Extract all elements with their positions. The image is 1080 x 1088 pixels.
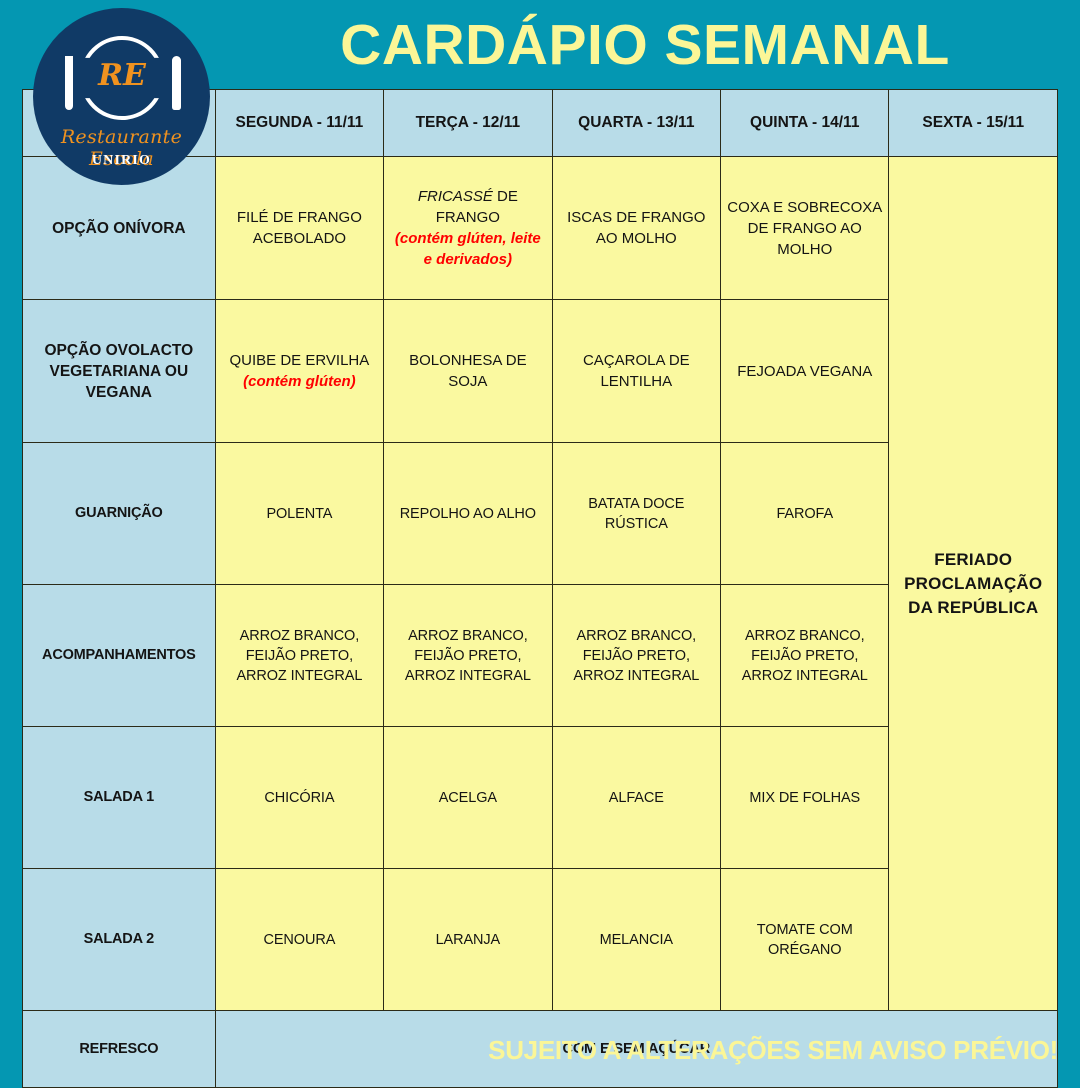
knife-icon [172,56,181,110]
cell-onivora-terca: FRICASSÉ DE FRANGO(contém glúten, leite … [384,157,552,300]
cell-acompanhamentos-quarta: ARROZ BRANCO, FEIJÃO PRETO, ARROZ INTEGR… [552,585,720,727]
day-header-segunda: SEGUNDA - 11/11 [215,90,383,157]
cell-acompanhamentos-terca: ARROZ BRANCO, FEIJÃO PRETO, ARROZ INTEGR… [384,585,552,727]
fork-tine-icon [70,56,73,78]
cell-vegetariana-segunda-allergen: (contém glúten) [221,371,378,392]
cell-vegetariana-terca: BOLONHESA DE SOJA [384,300,552,443]
cell-salada1-quinta: MIX DE FOLHAS [721,727,889,869]
cell-vegetariana-quinta: FEJOADA VEGANA [721,300,889,443]
cell-guarnicao-quarta: BATATA DOCE RÚSTICA [552,443,720,585]
restaurante-escola-logo: RE Restaurante Escola UNIRIO [33,8,210,185]
day-header-quinta: QUINTA - 14/11 [721,90,889,157]
cell-sexta-holiday-notice: FERIADO PROCLAMAÇÃO DA REPÚBLICA [889,157,1058,1011]
day-header-quarta: QUARTA - 13/11 [552,90,720,157]
weekly-menu-table: SEGUNDA - 11/11 TERÇA - 12/11 QUARTA - 1… [22,89,1058,1088]
cell-salada2-quarta: MELANCIA [552,869,720,1011]
cell-salada2-terca: LARANJA [384,869,552,1011]
cell-acompanhamentos-segunda: ARROZ BRANCO, FEIJÃO PRETO, ARROZ INTEGR… [215,585,383,727]
day-header-sexta: SEXTA - 15/11 [889,90,1058,157]
row-label-guarnicao: GUARNIÇÃO [23,443,216,585]
cell-salada1-quarta: ALFACE [552,727,720,869]
logo-monogram: RE [80,58,164,93]
cell-vegetariana-quarta: CAÇAROLA DE LENTILHA [552,300,720,443]
cell-salada2-quinta: TOMATE COM ORÉGANO [721,869,889,1011]
table-row-onivora: OPÇÃO ONÍVORA FILÉ DE FRANGO ACEBOLADO F… [23,157,1058,300]
cell-vegetariana-segunda-dish: QUIBE DE ERVILHA [230,352,370,369]
disclaimer-note: SUJEITO A ALTERAÇÕES SEM AVISO PRÉVIO! [0,1030,1058,1070]
cell-onivora-quarta: ISCAS DE FRANGO AO MOLHO [552,157,720,300]
day-header-terca: TERÇA - 12/11 [384,90,552,157]
cell-salada2-segunda: CENOURA [215,869,383,1011]
cell-onivora-terca-allergen: (contém glúten, leite e derivados) [389,228,546,270]
row-label-salada1: SALADA 1 [23,727,216,869]
cell-onivora-quinta: COXA E SOBRECOXA DE FRANGO AO MOLHO [721,157,889,300]
cell-vegetariana-segunda: QUIBE DE ERVILHA(contém glúten) [215,300,383,443]
cell-guarnicao-quinta: FAROFA [721,443,889,585]
row-label-vegetariana: OPÇÃO OVOLACTO VEGETARIANA OU VEGANA [23,300,216,443]
cell-acompanhamentos-quinta: ARROZ BRANCO, FEIJÃO PRETO, ARROZ INTEGR… [721,585,889,727]
row-label-acompanhamentos: ACOMPANHAMENTOS [23,585,216,727]
cell-onivora-segunda: FILÉ DE FRANGO ACEBOLADO [215,157,383,300]
logo-institution: UNIRIO [33,153,210,169]
cell-onivora-terca-dish-italic: FRICASSÉ [418,188,493,205]
cell-guarnicao-segunda: POLENTA [215,443,383,585]
cell-salada1-terca: ACELGA [384,727,552,869]
cell-salada1-segunda: CHICÓRIA [215,727,383,869]
cell-guarnicao-terca: REPOLHO AO ALHO [384,443,552,585]
row-label-salada2: SALADA 2 [23,869,216,1011]
page-title: CARDÁPIO SEMANAL [210,6,1080,84]
